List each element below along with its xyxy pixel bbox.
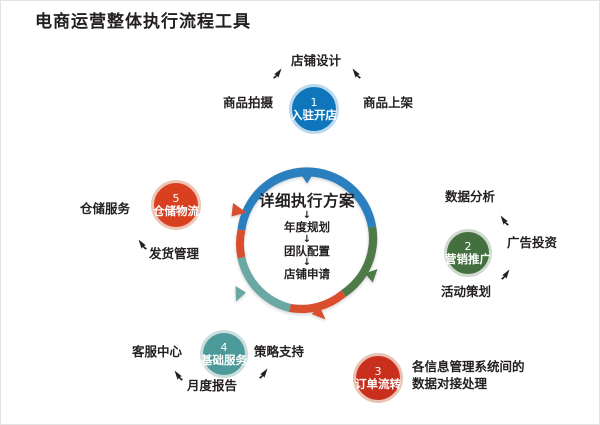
node-2-label: 营销推广 [445,253,491,266]
node-3-label: 订单流转 [355,378,401,391]
center-step-2: 团队配置 [237,245,377,258]
node-4-satellite-bottom: 月度报告 [187,378,237,395]
ring-arrow-bottom-left [236,286,247,302]
arrow-marker-icon [499,268,511,280]
node-1-entry-shop[interactable]: 1 入驻开店 [289,84,339,134]
arrow-marker-icon [137,238,149,250]
ring-arrow-top [301,174,313,184]
node-2-satellite-bottom: 活动策划 [441,284,491,301]
arrow-marker-icon [351,67,363,79]
node-3-satellite-right: 各信息管理系统间的数据对接处理 [412,359,527,393]
node-2-satellite-top: 数据分析 [445,189,495,206]
node-1-satellite-top: 店铺设计 [291,53,341,70]
node-1-satellite-right: 商品上架 [363,95,413,112]
center-heading: 详细执行方案 [237,193,377,210]
node-4-satellite-right: 策略支持 [254,344,304,361]
node-5-label: 仓储物流 [153,205,199,218]
node-5-number: 5 [173,193,180,205]
arrow-marker-icon [257,367,269,379]
center-step-3: 店铺申请 [237,268,377,281]
diagram-canvas: 电商运营整体执行流程工具 详细执行方案 [0,0,600,425]
node-4-label: 基础服务 [201,354,247,367]
node-5-satellite-bottom: 发货管理 [149,246,199,263]
node-3-order-flow[interactable]: 3 订单流转 [353,353,403,403]
center-text-block: 详细执行方案 ↓ 年度规划 ↓ 团队配置 ↓ 店铺申请 [237,193,377,281]
node-3-number: 3 [375,366,382,378]
node-1-number: 1 [311,97,318,109]
node-4-basic-service[interactable]: 4 基础服务 [200,330,248,378]
node-4-number: 4 [221,342,228,354]
arrow-marker-icon [173,369,185,381]
node-4-satellite-left: 客服中心 [132,344,182,361]
page-title: 电商运营整体执行流程工具 [35,7,251,32]
center-step-1: 年度规划 [237,221,377,234]
node-2-marketing[interactable]: 2 营销推广 [444,229,492,277]
node-1-satellite-left: 商品拍摄 [223,95,273,112]
node-2-number: 2 [465,241,472,253]
node-2-satellite-right: 广告投资 [507,235,557,252]
node-1-label: 入驻开店 [291,109,337,122]
node-5-warehouse-logistics[interactable]: 5 仓储物流 [151,180,201,230]
arrow-marker-icon [499,214,511,226]
node-5-satellite-left: 仓储服务 [80,201,130,218]
arrow-marker-icon [271,67,283,79]
